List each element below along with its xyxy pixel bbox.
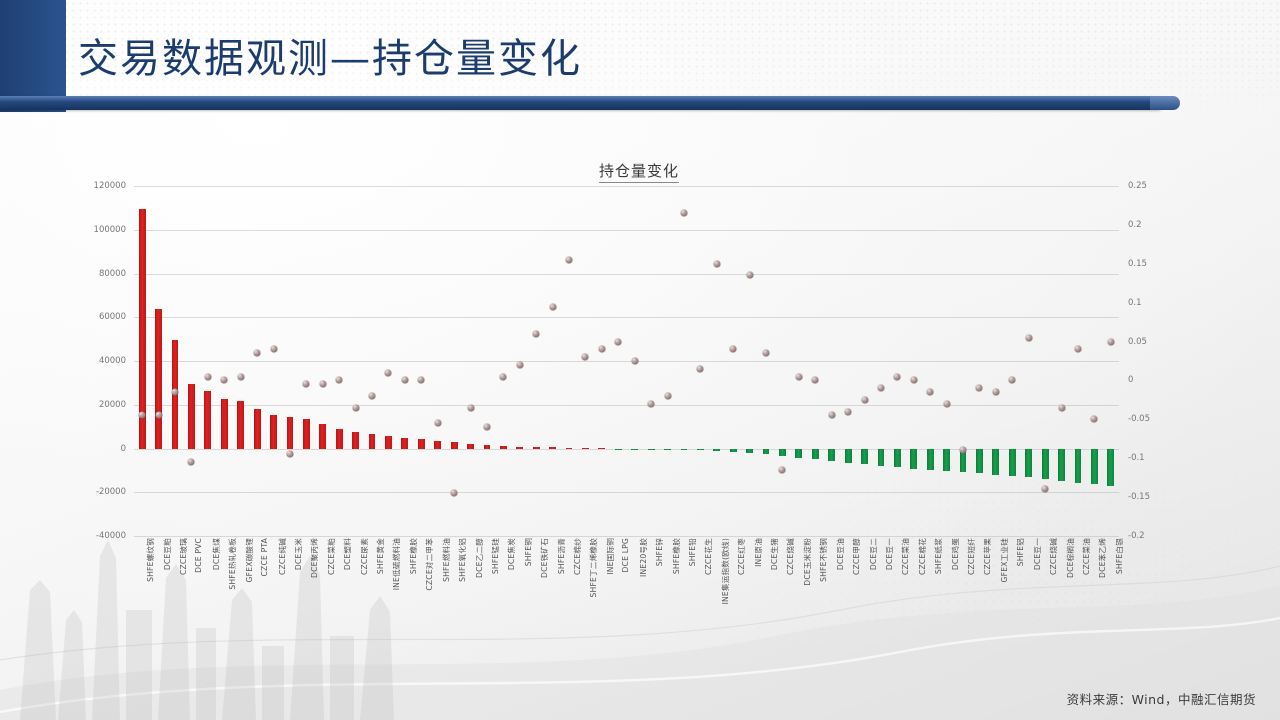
x-axis-category-labels: SHFE螺纹钢DCE豆粕CZCE玻璃DCE PVCDCE焦煤SHFE热轧卷板GF…: [134, 538, 1119, 658]
x-axis-tick-label: SHFE白银: [1114, 538, 1125, 574]
bar: [303, 419, 310, 449]
bar: [1025, 449, 1032, 478]
x-axis-tick-label: SHFE螺纹钢: [145, 538, 156, 582]
x-axis-tick-label: CZCE尿素: [359, 538, 370, 575]
bar: [287, 417, 294, 449]
scatter-point: [385, 369, 392, 376]
bar: [1075, 449, 1082, 483]
scatter-point: [697, 365, 704, 372]
bar: [369, 434, 376, 448]
y-axis-right-tick: 0.15: [1128, 259, 1147, 269]
bar: [434, 441, 441, 449]
x-axis-tick-label: SHFE铅: [687, 538, 698, 566]
y-axis-right-labels: 0.250.20.150.10.050-0.05-0.1-0.15-0.2: [1124, 186, 1174, 536]
scatter-point: [221, 377, 228, 384]
bar: [992, 449, 999, 475]
x-axis-tick-label: CZCE菜油: [1081, 538, 1092, 575]
x-axis-tick-label: CZCE花生: [703, 538, 714, 575]
x-axis-tick-label: CZCE PTA: [260, 538, 269, 576]
x-axis-tick-label: CZCE苹果: [982, 538, 993, 575]
bar: [385, 436, 392, 448]
bar: [1042, 449, 1049, 480]
x-axis-tick-label: INE20号胶: [638, 538, 649, 577]
y-axis-left-tick: 0: [121, 444, 126, 454]
bar: [976, 449, 983, 474]
x-axis-tick-label: DCE苯乙烯: [1097, 538, 1108, 578]
x-axis-tick-label: CZCE对二甲苯: [424, 538, 435, 591]
y-axis-right-tick: 0.1: [1128, 298, 1142, 308]
scatter-point: [1058, 404, 1065, 411]
source-note: 资料来源：Wind，中融汇信期货: [1067, 689, 1256, 708]
bar: [878, 449, 885, 466]
scatter-point: [992, 389, 999, 396]
x-axis-tick-label: INE国际铜: [605, 538, 616, 575]
x-axis-tick-label: CZCE棉花: [917, 538, 928, 575]
x-axis-tick-label: CZCE短纤: [966, 538, 977, 575]
bar: [812, 449, 819, 460]
x-axis-tick-label: GFEX工业硅: [999, 538, 1010, 582]
bar: [533, 447, 540, 449]
y-axis-right-tick: 0.05: [1128, 337, 1147, 347]
x-axis-tick-label: GFEX碳酸锂: [244, 538, 255, 582]
bar: [270, 415, 277, 449]
bar: [254, 409, 261, 448]
y-axis-left-tick: 100000: [94, 225, 126, 235]
chart-title: 持仓量变化: [84, 160, 1194, 181]
scatter-point: [467, 404, 474, 411]
y-axis-right-tick: 0.2: [1128, 220, 1142, 230]
x-axis-tick-label: DCE玉米淀粉: [802, 538, 813, 586]
bar: [336, 429, 343, 449]
x-axis-tick-label: CZCE纯碱: [277, 538, 288, 575]
x-axis-tick-label: DCE LPG: [621, 538, 630, 572]
x-axis-tick-label: SHFE黄金: [375, 538, 386, 574]
bar: [1091, 449, 1098, 485]
y-axis-right-tick: -0.15: [1128, 492, 1150, 502]
bar: [1058, 449, 1065, 481]
scatter-point: [369, 393, 376, 400]
y-axis-right-tick: 0: [1128, 375, 1133, 385]
y-axis-left-tick: 20000: [99, 400, 126, 410]
scatter-point: [795, 373, 802, 380]
scatter-point: [664, 393, 671, 400]
bar: [566, 448, 573, 449]
scatter-point: [1107, 338, 1114, 345]
scatter-point: [713, 260, 720, 267]
x-axis-tick-label: CZCE烧碱: [1048, 538, 1059, 575]
bar: [861, 449, 868, 465]
x-axis-tick-label: SHFE纸浆: [933, 538, 944, 574]
scatter-point: [1025, 334, 1032, 341]
scatter-point: [910, 377, 917, 384]
bar: [1107, 449, 1114, 487]
y-axis-left-tick: 120000: [94, 181, 126, 191]
scatter-point: [401, 377, 408, 384]
scatter-point: [927, 389, 934, 396]
x-axis-tick-label: DCE豆一: [884, 538, 895, 570]
bar: [155, 309, 162, 449]
scatter-point: [1091, 416, 1098, 423]
header-underline-bar-tail: [1150, 96, 1180, 110]
x-axis-tick-label: CZCE甲醇: [851, 538, 862, 575]
y-axis-left-tick: -20000: [96, 487, 126, 497]
scatter-point: [960, 447, 967, 454]
scatter-point: [943, 400, 950, 407]
y-axis-left-tick: 80000: [99, 269, 126, 279]
scatter-point: [188, 459, 195, 466]
x-axis-tick-label: SHFE不锈钢: [818, 538, 829, 582]
scatter-point: [763, 350, 770, 357]
scatter-point: [877, 385, 884, 392]
scatter-point: [549, 303, 556, 310]
x-axis-tick-label: SHFE氧化铝: [457, 538, 468, 582]
scatter-point: [631, 358, 638, 365]
scatter-point: [303, 381, 310, 388]
scatter-point: [434, 420, 441, 427]
bar: [352, 432, 359, 448]
bar: [910, 449, 917, 469]
bar: [697, 449, 704, 451]
scatter-point: [500, 373, 507, 380]
bar: [500, 446, 507, 449]
x-axis-tick-label: DCE豆油: [835, 538, 846, 570]
scatter-point: [319, 381, 326, 388]
scatter-point: [516, 361, 523, 368]
x-axis-tick-label: SHFE锰硅: [490, 538, 501, 574]
x-axis-tick-label: SHFE沥青: [556, 538, 567, 574]
scatter-point: [418, 377, 425, 384]
bar: [598, 448, 605, 449]
bar: [188, 384, 195, 449]
gridline: [134, 361, 1119, 362]
scatter-point: [1074, 346, 1081, 353]
gridline: [134, 274, 1119, 275]
scatter-point: [1042, 486, 1049, 493]
scatter-point: [139, 412, 146, 419]
bar: [845, 449, 852, 463]
y-axis-right-tick: -0.2: [1128, 531, 1145, 541]
y-axis-left-tick: 40000: [99, 356, 126, 366]
x-axis-tick-label: SHFE橡胶: [408, 538, 419, 574]
y-axis-right-tick: -0.05: [1128, 414, 1150, 424]
x-axis-tick-label: DCE聚丙烯: [309, 538, 320, 578]
scatter-point: [533, 330, 540, 337]
x-axis-tick-label: SHFE热轧卷板: [227, 538, 238, 590]
bar: [221, 399, 228, 448]
y-axis-right-tick: -0.1: [1128, 453, 1145, 463]
scatter-point: [270, 346, 277, 353]
scatter-point: [615, 338, 622, 345]
x-axis-tick-label: CZCE红枣: [736, 538, 747, 575]
x-axis-tick-label: DCE棕榈油: [1065, 538, 1076, 578]
x-axis-tick-label: INE低硫燃料油: [391, 538, 402, 590]
bar: [664, 449, 671, 450]
x-axis-tick-label: SHFE铜: [523, 538, 534, 566]
bar: [237, 401, 244, 448]
x-axis-tick-label: DCE鸡蛋: [950, 538, 961, 570]
x-axis-tick-label: CZCE菜粕: [326, 538, 337, 575]
x-axis-tick-label: DCE焦煤: [211, 538, 222, 570]
scatter-point: [861, 396, 868, 403]
x-axis-tick-label: SHFE燃料油: [441, 538, 452, 582]
gridline: [134, 317, 1119, 318]
bar: [648, 449, 655, 450]
gridline: [134, 536, 1119, 537]
scatter-point: [352, 404, 359, 411]
bar: [615, 449, 622, 450]
gridline: [134, 492, 1119, 493]
gridline: [134, 230, 1119, 231]
x-axis-tick-label: INE原油: [753, 538, 764, 567]
gridlines: [134, 186, 1119, 536]
x-axis-tick-label: CZCE烧碱: [785, 538, 796, 575]
x-axis-tick-label: DCE塑料: [342, 538, 353, 570]
x-axis-tick-label: DCE豆二: [868, 538, 879, 570]
scatter-point: [894, 373, 901, 380]
bar: [943, 449, 950, 472]
x-axis-tick-label: INE集运指数(欧线): [720, 538, 731, 604]
x-axis-tick-label: CZCE菜油: [900, 538, 911, 575]
scatter-point: [336, 377, 343, 384]
scatter-point: [566, 256, 573, 263]
bar: [894, 449, 901, 468]
scatter-point: [582, 354, 589, 361]
scatter-point: [1009, 377, 1016, 384]
bar: [418, 439, 425, 448]
x-axis-tick-label: CZCE玻璃: [178, 538, 189, 575]
header-underline-bar: [0, 96, 1164, 110]
bar: [681, 449, 688, 450]
scatter-point: [730, 346, 737, 353]
chart-container: 持仓量变化 120000100000800006000040000200000-…: [84, 160, 1194, 580]
bar: [467, 444, 474, 449]
bar: [401, 438, 408, 449]
bar: [1009, 449, 1016, 477]
x-axis-tick-label: DCE铁矿石: [539, 538, 550, 578]
scatter-point: [779, 466, 786, 473]
scatter-point: [680, 210, 687, 217]
bar: [763, 449, 770, 455]
scatter-point: [451, 490, 458, 497]
scatter-point: [204, 373, 211, 380]
y-axis-right-tick: 0.25: [1128, 181, 1147, 191]
x-axis-tick-label: SHFE铝: [1015, 538, 1026, 566]
x-axis-tick-label: CZCE棉纱: [572, 538, 583, 575]
bar: [779, 449, 786, 456]
bar: [582, 448, 589, 449]
slide-header: 交易数据观测—持仓量变化: [0, 0, 1280, 112]
scatter-point: [172, 389, 179, 396]
scatter-point: [483, 424, 490, 431]
scatter-point: [746, 272, 753, 279]
scatter-point: [648, 400, 655, 407]
x-axis-tick-label: DCE PVC: [194, 538, 203, 573]
bar: [516, 447, 523, 449]
gridline: [134, 449, 1119, 450]
bar: [795, 449, 802, 458]
bar: [319, 424, 326, 448]
bar: [828, 449, 835, 462]
scatter-point: [598, 346, 605, 353]
bar: [730, 449, 737, 453]
x-axis-tick-label: SHFE橡胶: [671, 538, 682, 574]
x-axis-tick-label: DCE焦炭: [506, 538, 517, 570]
bar: [484, 445, 491, 449]
x-axis-tick-label: SHFE丁二烯橡胶: [588, 538, 599, 597]
scatter-point: [254, 350, 261, 357]
gridline: [134, 405, 1119, 406]
chart-title-text: 持仓量变化: [599, 162, 679, 183]
scatter-point: [828, 412, 835, 419]
bar: [746, 449, 753, 454]
plot-area: [134, 186, 1119, 536]
x-axis-tick-label: SHFE锌: [654, 538, 665, 566]
bar: [713, 449, 720, 452]
scatter-point: [237, 373, 244, 380]
scatter-point: [976, 385, 983, 392]
x-axis-tick-label: DCE豆一: [1032, 538, 1043, 570]
y-axis-left-tick: -40000: [96, 531, 126, 541]
x-axis-tick-label: DCE玉米: [293, 538, 304, 570]
x-axis-tick-label: DCE豆粕: [162, 538, 173, 570]
scatter-point: [155, 412, 162, 419]
x-axis-tick-label: DCE生猪: [769, 538, 780, 570]
bar: [631, 449, 638, 450]
scatter-point: [286, 451, 293, 458]
bar: [549, 447, 556, 448]
bar: [927, 449, 934, 470]
page-title: 交易数据观测—持仓量变化: [78, 26, 582, 84]
scatter-point: [812, 377, 819, 384]
gridline: [134, 186, 1119, 187]
bar: [204, 391, 211, 449]
scatter-point: [845, 408, 852, 415]
x-axis-tick-label: DCE乙二醇: [474, 538, 485, 578]
y-axis-left-labels: 120000100000800006000040000200000-20000-…: [82, 186, 130, 536]
bar: [451, 442, 458, 448]
y-axis-left-tick: 60000: [99, 312, 126, 322]
